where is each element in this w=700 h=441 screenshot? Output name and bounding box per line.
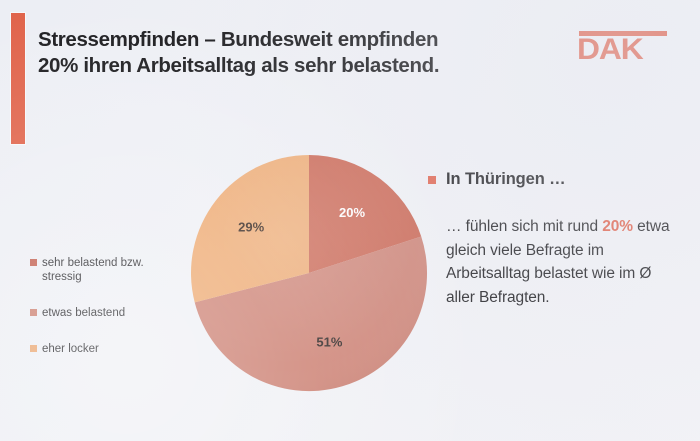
legend-label-line-2: stressig [42, 270, 144, 284]
slide-canvas: Stressempfinden – Bundesweit empfinden 2… [0, 0, 700, 441]
left-accent-bar [11, 13, 25, 144]
chart-legend: sehr belastend bzw. stressig etwas belas… [30, 256, 185, 378]
bullet-square-icon [428, 176, 436, 184]
legend-item-eher-locker: eher locker [30, 342, 185, 356]
callout-body-part-1: … fühlen sich mit rund [446, 218, 602, 235]
page-title-line-1: Stressempfinden – Bundesweit empfinden [38, 27, 548, 53]
legend-swatch-icon [30, 345, 37, 352]
pie-chart: 20%51%29% [190, 154, 428, 392]
dak-logo-text: DAK [577, 35, 643, 65]
legend-item-label: eher locker [42, 342, 99, 356]
legend-label-line-1: sehr belastend bzw. [42, 256, 144, 270]
callout-panel: In Thüringen … … fühlen sich mit rund 20… [428, 170, 680, 309]
pie-slice-label: 51% [316, 335, 342, 350]
callout-header: In Thüringen … [428, 170, 680, 189]
legend-item-etwas-belastend: etwas belastend [30, 306, 185, 320]
legend-swatch-icon [30, 259, 37, 266]
callout-title: In Thüringen … [446, 170, 566, 189]
legend-item-sehr-belastend: sehr belastend bzw. stressig [30, 256, 185, 284]
pie-slice-label: 20% [339, 205, 365, 220]
legend-swatch-icon [30, 309, 37, 316]
legend-item-label: sehr belastend bzw. stressig [42, 256, 144, 284]
pie-chart-svg: 20%51%29% [190, 154, 428, 392]
dak-logo: DAK [577, 31, 673, 65]
pie-shading-overlay [191, 155, 427, 391]
page-title: Stressempfinden – Bundesweit empfinden 2… [38, 27, 548, 79]
callout-body: … fühlen sich mit rund 20% etwa gleich v… [446, 215, 678, 309]
callout-body-highlight: 20% [602, 218, 633, 235]
legend-item-label: etwas belastend [42, 306, 125, 320]
page-title-line-2: 20% ihren Arbeitsalltag als sehr belaste… [38, 53, 548, 79]
pie-slice-label: 29% [238, 220, 264, 235]
